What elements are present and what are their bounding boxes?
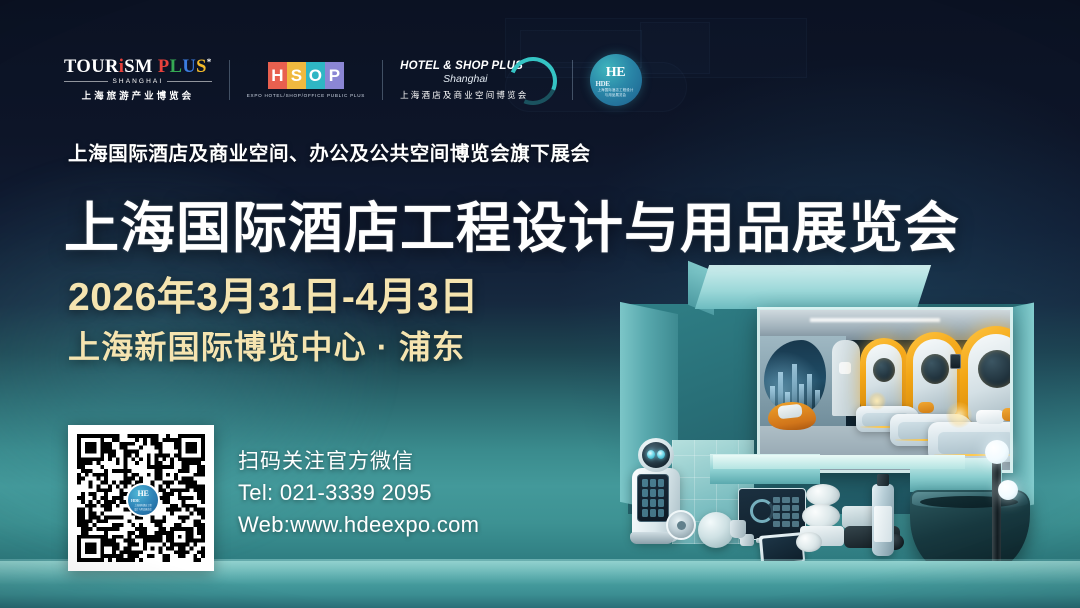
logo-bar: TOURiSM PLUS* SHANGHAI 上海旅游产业博览会 H S O P…: [64, 52, 642, 108]
hsop-subline: EXPO HOTEL/SHOP/OFFICE PUBLIC PLUS: [247, 93, 365, 98]
floor-lamp-pole: [992, 460, 1001, 574]
kicker-text: 上海国际酒店及商业空间、办公及公共空间博览会旗下展会: [68, 137, 591, 166]
bedside-lamp-glow-2: [868, 392, 886, 410]
robot-eye-left: [647, 450, 655, 459]
dashboard-keypad: [773, 497, 799, 527]
display-ledge-front: [713, 455, 965, 469]
sphere-stool: [698, 512, 734, 548]
hsop-letter-row: H S O P: [268, 62, 344, 89]
he-monogram: HE: [590, 65, 642, 81]
towel-roll-mid: [802, 504, 840, 528]
bed-pillow-white: [976, 410, 1004, 424]
hsp-chinese: 上海酒店及商业空间博览会: [400, 89, 528, 101]
hsop-letter-s: S: [287, 62, 306, 89]
hsp-wordmark: HOTEL & SHOP PLUS: [400, 60, 523, 72]
logo-divider-1: [229, 60, 230, 100]
event-dates: 2026年3月31日-4月3日: [68, 266, 479, 322]
logo-divider-2: [382, 60, 383, 100]
tourism-plus-wordmark: TOURiSM PLUS*: [64, 58, 212, 77]
robot-touch-screen: [637, 474, 669, 522]
wechat-prompt: 扫码关注官方微信: [238, 447, 479, 477]
bedside-lamp-glow: [946, 402, 972, 428]
product-scene: [610, 262, 1080, 608]
qr-center-logo: HE HDE 上海国际酒店工程 设计与用品展览会: [126, 483, 160, 517]
logo-hsop[interactable]: H S O P EXPO HOTEL/SHOP/OFFICE PUBLIC PL…: [247, 62, 365, 98]
rule-right: [167, 81, 211, 82]
robot-eye-right: [657, 450, 665, 459]
promo-banner: TOURiSM PLUS* SHANGHAI 上海旅游产业博览会 H S O P…: [0, 0, 1080, 608]
door-access-panel: [839, 362, 851, 374]
event-venue: 上海新国际博览中心 · 浦东: [68, 322, 465, 368]
robot-wheel: [666, 510, 696, 540]
logo-hotel-shop-plus[interactable]: HOTEL & SHOP PLUS Shanghai 上海酒店及商业空间博览会: [400, 60, 554, 101]
hsp-city: Shanghai: [441, 73, 487, 85]
towel-roll-folded: [796, 532, 822, 552]
logo-tourism-plus[interactable]: TOURiSM PLUS* SHANGHAI 上海旅游产业博览会: [64, 58, 212, 103]
lamp-globe-lower: [998, 480, 1018, 500]
hsop-letter-h: H: [268, 62, 287, 89]
logo-he-badge[interactable]: HE HDE 上海国际酒店工程设计 与用品展览会: [590, 54, 642, 106]
ghost-shape-4: [640, 22, 710, 74]
bottle-label: [874, 506, 892, 542]
contact-block: 扫码关注官方微信 Tel: 021-3339 2095 Web:www.hdee…: [238, 447, 479, 540]
robot-app-grid: [642, 479, 664, 517]
page-title: 上海国际酒店工程设计与用品展览会: [64, 183, 960, 263]
hotel-room-frame: [760, 310, 1010, 470]
beanbag-pillow: [777, 404, 802, 419]
robot-base: [630, 532, 674, 544]
lamp-globe-upper: [985, 440, 1009, 464]
qr-logo-monogram: HE: [128, 489, 158, 498]
tourism-plus-city: SHANGHAI: [112, 78, 163, 85]
tourism-plus-subline: SHANGHAI: [64, 78, 212, 85]
tourism-plus-chinese: 上海旅游产业博览会: [82, 88, 195, 102]
towel-roll-top: [806, 484, 840, 506]
hsop-letter-p: P: [325, 62, 344, 89]
bottle-cap: [877, 474, 889, 486]
rule-left: [64, 81, 108, 82]
wechat-qr-code[interactable]: HE HDE 上海国际酒店工程 设计与用品展览会: [68, 425, 214, 571]
small-jar-2: [730, 520, 746, 538]
qr-logo-chinese-2: 设计与用品展览会: [128, 507, 158, 511]
he-chinese-line-2: 与用品展览会: [590, 92, 642, 97]
room-door: [832, 340, 860, 416]
ceiling-light-strip: [810, 318, 940, 322]
amenity-bottle: [872, 484, 894, 556]
bed-pillow-orange: [1002, 408, 1010, 421]
website-url[interactable]: Web:www.hdeexpo.com: [238, 509, 479, 540]
bed-pillow-orange-2: [918, 402, 934, 413]
pod-control-panel: [950, 354, 961, 369]
logo-divider-3: [572, 60, 573, 100]
dashboard-gauge-icon: [750, 499, 774, 523]
robot-face-plate: [642, 442, 670, 468]
hsop-letter-o: O: [306, 62, 325, 89]
telephone[interactable]: Tel: 021-3339 2095: [238, 477, 479, 508]
trademark-star-icon: *: [207, 57, 212, 67]
scene-top-lid: [695, 265, 931, 309]
